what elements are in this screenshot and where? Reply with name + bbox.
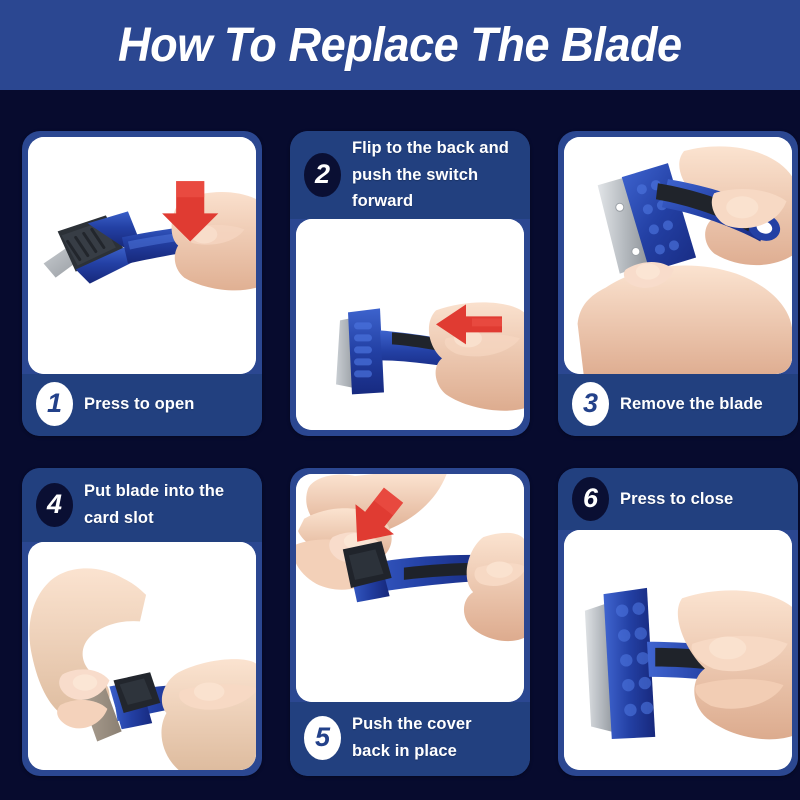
step-badge-1: 1 <box>36 382 73 426</box>
illustration-push-switch <box>296 219 524 430</box>
step-caption-line1-4: Put blade into the <box>84 482 224 500</box>
step-photo-3 <box>564 137 792 374</box>
step-caption-line1-6: Press to close <box>620 490 733 508</box>
step-caption-1: 1 Press to open <box>22 374 262 436</box>
header-banner: How To Replace The Blade <box>0 0 800 90</box>
step-card-6[interactable]: 6 Press to close <box>558 468 798 776</box>
page-title: How To Replace The Blade <box>118 18 682 73</box>
infographic-page: How To Replace The Blade <box>0 0 800 800</box>
illustration-remove-blade <box>564 137 792 374</box>
step-card-5[interactable]: 5 Push the cover back in place <box>290 468 530 776</box>
step-badge-4: 4 <box>36 483 73 527</box>
step-caption-text-2: Flip to the back and push the switch for… <box>352 135 520 215</box>
step-card-2[interactable]: 2 Flip to the back and push the switch f… <box>290 131 530 436</box>
step-caption-3: 3 Remove the blade <box>558 374 798 436</box>
steps-grid: 1 Press to open 2 Flip to the back and p… <box>22 131 778 776</box>
step-caption-text-5: Push the cover back in place <box>352 711 472 764</box>
step-caption-line1-5: Push the cover <box>352 715 472 733</box>
step-number-2: 2 <box>315 161 330 188</box>
illustration-press-to-close <box>564 530 792 770</box>
step-photo-4 <box>28 542 256 770</box>
step-number-5: 5 <box>315 724 330 751</box>
step-photo-2 <box>296 219 524 430</box>
step-number-6: 6 <box>583 485 598 512</box>
step-photo-5 <box>296 474 524 702</box>
step-card-4[interactable]: 4 Put blade into the card slot <box>22 468 262 776</box>
step-card-3[interactable]: 3 Remove the blade <box>558 131 798 436</box>
illustration-press-to-open <box>28 137 256 374</box>
step-caption-text-4: Put blade into the card slot <box>84 478 224 531</box>
illustration-insert-blade <box>28 542 256 770</box>
step-caption-line2-4: card slot <box>84 505 224 532</box>
step-card-1[interactable]: 1 Press to open <box>22 131 262 436</box>
step-number-1: 1 <box>47 390 62 417</box>
step-caption-text-6: Press to close <box>620 486 733 513</box>
step-badge-6: 6 <box>572 477 609 521</box>
step-caption-line1-3: Remove the blade <box>620 395 763 413</box>
step-number-4: 4 <box>47 491 62 518</box>
step-caption-5: 5 Push the cover back in place <box>290 702 530 776</box>
illustration-push-cover <box>296 474 524 702</box>
step-photo-1 <box>28 137 256 374</box>
step-badge-5: 5 <box>304 716 341 760</box>
step-caption-line2-2: push the switch forward <box>352 162 520 215</box>
step-badge-2: 2 <box>304 153 341 197</box>
step-photo-6 <box>564 530 792 770</box>
step-caption-4: 4 Put blade into the card slot <box>22 468 262 542</box>
step-caption-line2-5: back in place <box>352 738 472 765</box>
step-badge-3: 3 <box>572 382 609 426</box>
step-caption-line1-2: Flip to the back and <box>352 139 509 157</box>
step-caption-text-1: Press to open <box>84 391 194 418</box>
step-caption-2: 2 Flip to the back and push the switch f… <box>290 131 530 219</box>
step-caption-line1-1: Press to open <box>84 395 194 413</box>
step-caption-text-3: Remove the blade <box>620 391 763 418</box>
step-number-3: 3 <box>583 390 598 417</box>
step-caption-6: 6 Press to close <box>558 468 798 530</box>
